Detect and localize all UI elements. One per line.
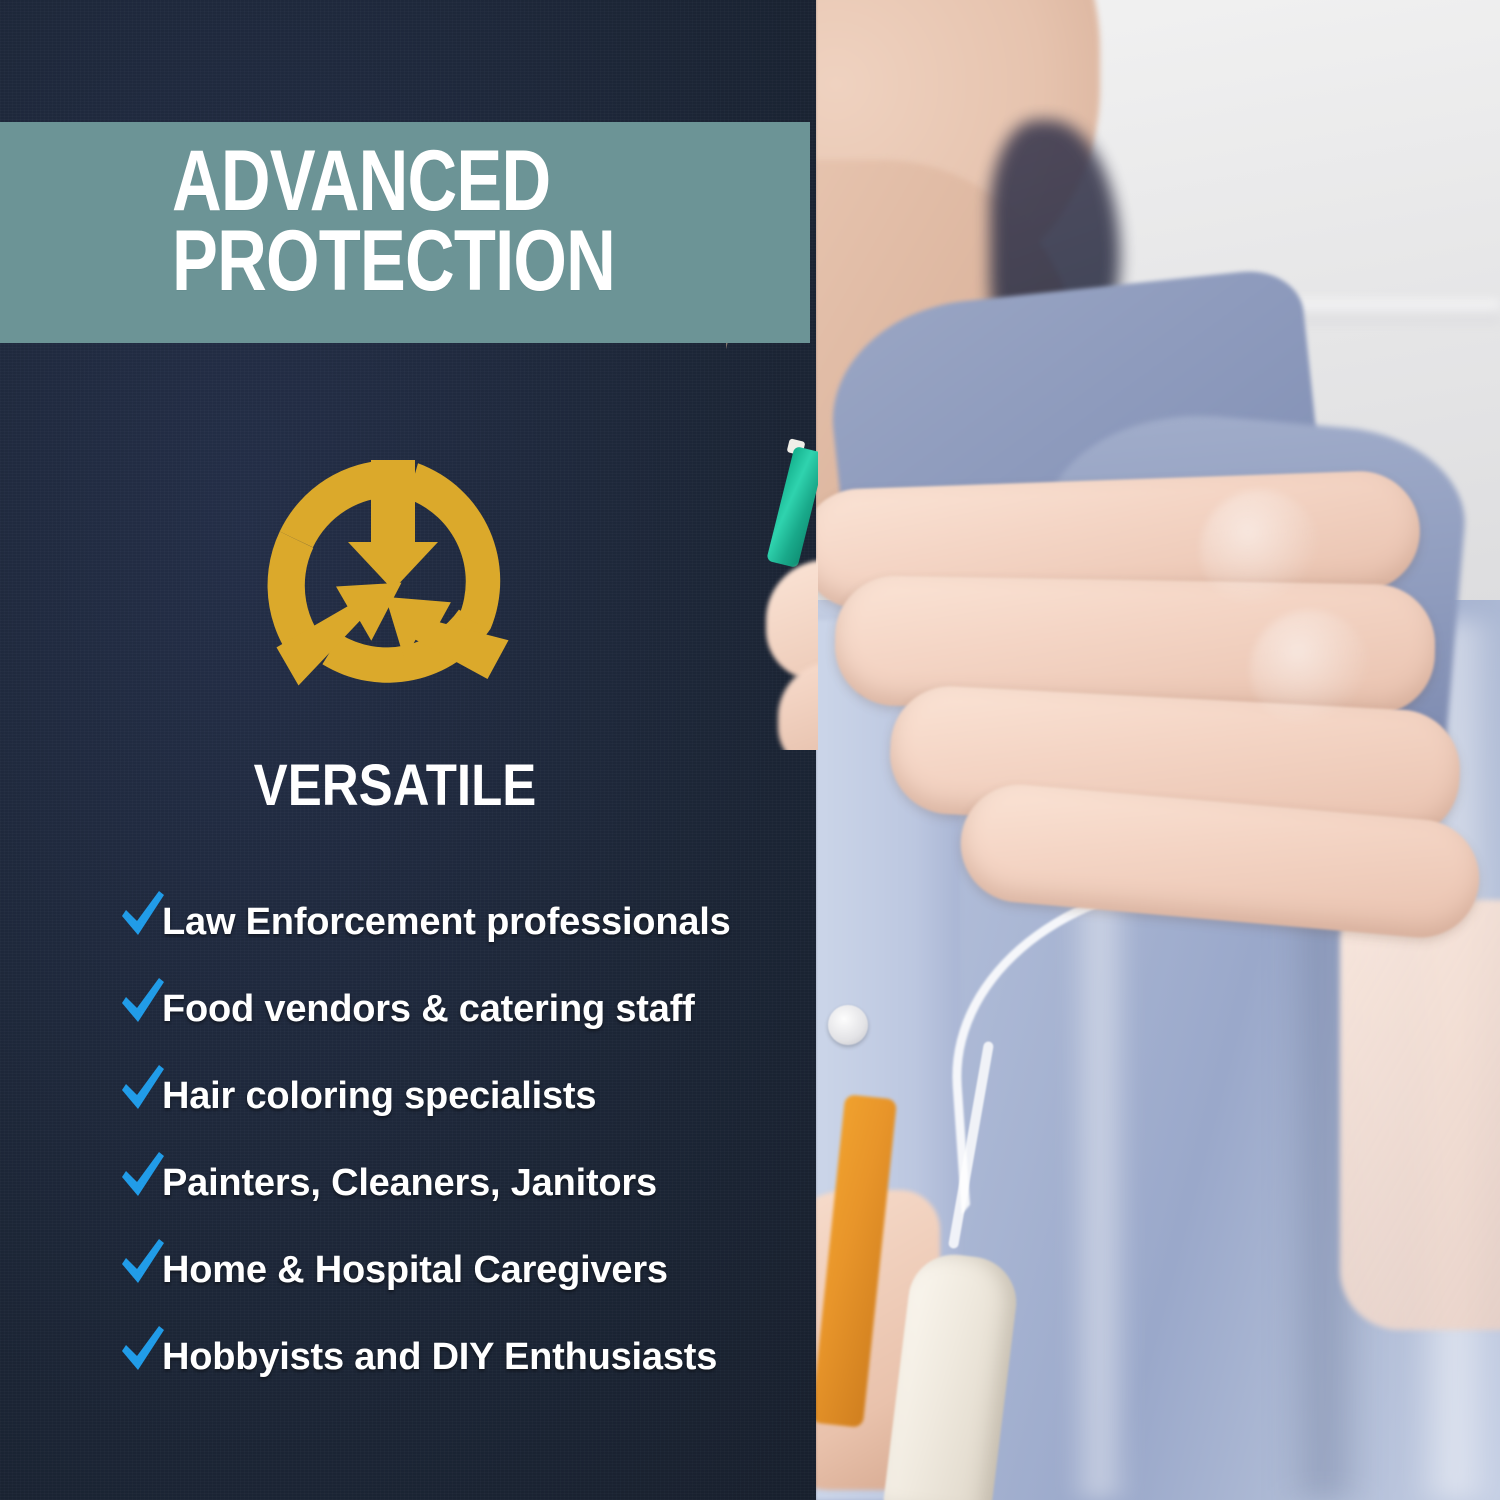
- list-item-label: Hair coloring specialists: [162, 1075, 596, 1118]
- check-icon: [118, 1063, 166, 1115]
- list-item-label: Food vendors & catering staff: [162, 988, 695, 1031]
- list-item: Painters, Cleaners, Janitors: [118, 1156, 808, 1243]
- feature-label: VERSATILE: [47, 752, 742, 819]
- page-title: ADVANCED PROTECTION: [172, 142, 668, 302]
- check-icon: [118, 1150, 166, 1202]
- circular-three-arrows-icon: [258, 450, 528, 720]
- product-infographic: ADVANCED PROTECTION VERSATILE: [0, 0, 1500, 1500]
- photo-knuckle-highlight: [1250, 610, 1370, 730]
- list-item-label: Home & Hospital Caregivers: [162, 1249, 668, 1292]
- list-item: Hobbyists and DIY Enthusiasts: [118, 1330, 808, 1417]
- list-item: Hair coloring specialists: [118, 1069, 808, 1156]
- check-icon: [118, 1324, 166, 1376]
- check-icon: [118, 1237, 166, 1289]
- list-item-label: Painters, Cleaners, Janitors: [162, 1162, 657, 1205]
- check-icon: [118, 889, 166, 941]
- photo-glove-hem: [1340, 900, 1500, 1330]
- photo-gloved-hand: [810, 430, 1500, 900]
- product-photo: [810, 0, 1500, 1500]
- photo-shirt-button: [828, 1005, 868, 1045]
- list-item: Home & Hospital Caregivers: [118, 1243, 808, 1330]
- check-icon: [118, 976, 166, 1028]
- header-banner: ADVANCED PROTECTION: [0, 122, 810, 343]
- list-item: Law Enforcement professionals: [118, 895, 808, 982]
- photo-knuckle-highlight: [1200, 490, 1320, 610]
- list-item-label: Hobbyists and DIY Enthusiasts: [162, 1336, 717, 1379]
- benefits-checklist: Law Enforcement professionals Food vendo…: [118, 895, 808, 1417]
- list-item: Food vendors & catering staff: [118, 982, 808, 1069]
- list-item-label: Law Enforcement professionals: [162, 901, 731, 944]
